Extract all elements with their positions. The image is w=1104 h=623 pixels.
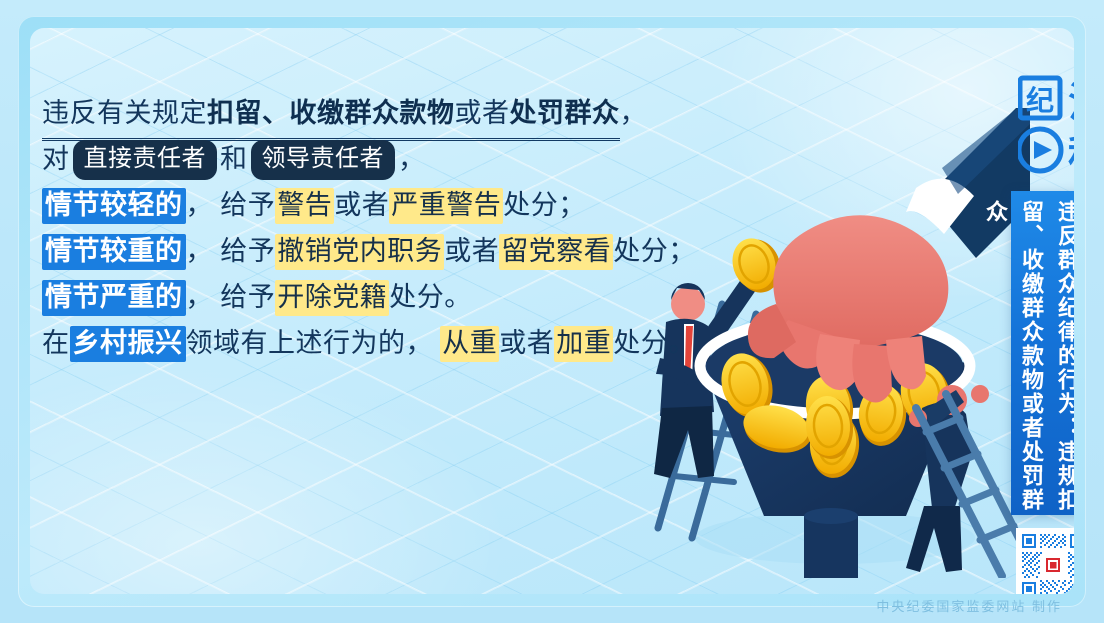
line3-highlight-yellow-2: 严重警告 xyxy=(389,188,503,224)
line5-comma: ， xyxy=(186,282,214,312)
text-line-6: 在乡村振兴领域有上述行为的， 从重或者加重处分。 xyxy=(42,320,702,366)
line3-comma: ， xyxy=(186,190,214,220)
line6-plain-3: 处分。 xyxy=(613,328,696,358)
logo-char-2: 法 xyxy=(1068,80,1074,125)
line1-bold-2: 处罚群众 xyxy=(510,98,620,128)
qr-code[interactable] xyxy=(1016,528,1074,594)
brand-logo-jifa-baike: 纪 法 科 xyxy=(1018,74,1074,182)
line4-highlight-yellow-1: 撤销党内职务 xyxy=(275,234,444,270)
infographic-poster: 违反有关规定扣留、收缴群众款物或者处罚群众， 对直接责任者和领导责任者， 情节较… xyxy=(0,0,1104,623)
line6-highlight-yellow-1: 从重 xyxy=(440,326,499,362)
line3-plain-2: 或者 xyxy=(334,190,389,220)
line2-conj: 和 xyxy=(220,144,248,174)
line6-prefix: 在 xyxy=(42,328,70,358)
inner-panel: 违反有关规定扣留、收缴群众款物或者处罚群众， 对直接责任者和领导责任者， 情节较… xyxy=(30,28,1074,594)
text-line-2: 对直接责任者和领导责任者， xyxy=(42,136,702,182)
logo-char-1: 纪 xyxy=(1026,85,1054,117)
text-line-3: 情节较轻的， 给予警告或者严重警告处分； xyxy=(42,182,702,228)
line5-highlight-blue: 情节严重的 xyxy=(42,280,186,316)
vertical-title-text: 违反群众纪律的行为：违规扣留、收缴群众款物或者处罚群众 xyxy=(1011,191,1074,515)
line6-highlight-blue: 乡村振兴 xyxy=(70,326,186,362)
line6-plain-2: 或者 xyxy=(499,328,554,358)
line4-plain-3: 处分； xyxy=(613,236,696,266)
line3-plain-3: 处分； xyxy=(503,190,586,220)
line4-highlight-yellow-2: 留党察看 xyxy=(499,234,613,270)
text-line-4: 情节较重的， 给予撤销党内职务或者留党察看处分； xyxy=(42,228,702,274)
text-line-5: 情节严重的， 给予开除党籍处分。 xyxy=(42,274,702,320)
credit-text: 中央纪委国家监委网站 制作 xyxy=(876,596,1062,615)
line3-plain-1: 给予 xyxy=(220,190,275,220)
line6-plain-1: 领域有上述行为的， xyxy=(186,328,434,358)
text-line-1: 违反有关规定扣留、收缴群众款物或者处罚群众， xyxy=(42,90,702,136)
line1-comma: ， xyxy=(620,98,648,128)
line3-highlight-blue: 情节较轻的 xyxy=(42,188,186,224)
line5-plain-3: 处分。 xyxy=(389,282,472,312)
line1-plain-mid: 或者 xyxy=(455,98,510,128)
line1-plain-before: 违反有关规定 xyxy=(42,98,207,128)
badge-leadership-responsible: 领导责任者 xyxy=(251,140,396,180)
line5-highlight-yellow-1: 开除党籍 xyxy=(275,280,389,316)
logo-char-4: 科 xyxy=(1068,132,1074,177)
badge-direct-responsible: 直接责任者 xyxy=(73,140,218,180)
line3-highlight-yellow-1: 警告 xyxy=(275,188,334,224)
line4-plain-2: 或者 xyxy=(444,236,499,266)
play-icon xyxy=(1034,141,1052,159)
line1-underlined: 违反有关规定扣留、收缴群众款物或者处罚群众 xyxy=(42,90,620,141)
line4-plain-1: 给予 xyxy=(220,236,275,266)
line2-prefix: 对 xyxy=(42,144,70,174)
line4-comma: ， xyxy=(186,236,214,266)
line6-highlight-yellow-2: 加重 xyxy=(554,326,613,362)
vertical-title-banner: 违反群众纪律的行为：违规扣留、收缴群众款物或者处罚群众 xyxy=(1011,191,1074,515)
line1-bold-1: 扣留、收缴群众款物 xyxy=(207,98,455,128)
line5-plain-1: 给予 xyxy=(220,282,275,312)
line4-highlight-blue: 情节较重的 xyxy=(42,234,186,270)
line2-comma: ， xyxy=(398,144,426,174)
body-text-block: 违反有关规定扣留、收缴群众款物或者处罚群众， 对直接责任者和领导责任者， 情节较… xyxy=(42,90,702,366)
